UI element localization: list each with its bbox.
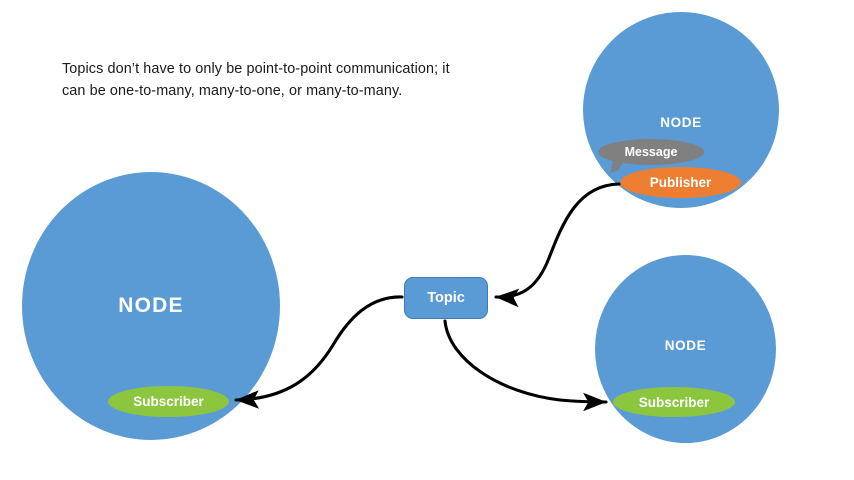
publisher-oval[interactable]: Publisher <box>620 167 741 198</box>
node-left-label: NODE <box>22 294 280 318</box>
message-oval[interactable]: Message <box>598 139 704 165</box>
topic-box[interactable]: Topic <box>404 277 488 319</box>
arrow-publisher-to-topic <box>496 184 619 297</box>
arrow-topic-to-subscriber-bottom-right <box>445 321 606 402</box>
node-bottom-right-label: NODE <box>595 338 776 353</box>
caption-text: Topics don’t have to only be point-to-po… <box>62 58 482 102</box>
node-top-right-label: NODE <box>583 115 779 130</box>
diagram-canvas: Topics don’t have to only be point-to-po… <box>0 0 854 480</box>
subscriber-oval-bottom-right[interactable]: Subscriber <box>613 387 735 417</box>
subscriber-oval-left[interactable]: Subscriber <box>108 386 229 417</box>
